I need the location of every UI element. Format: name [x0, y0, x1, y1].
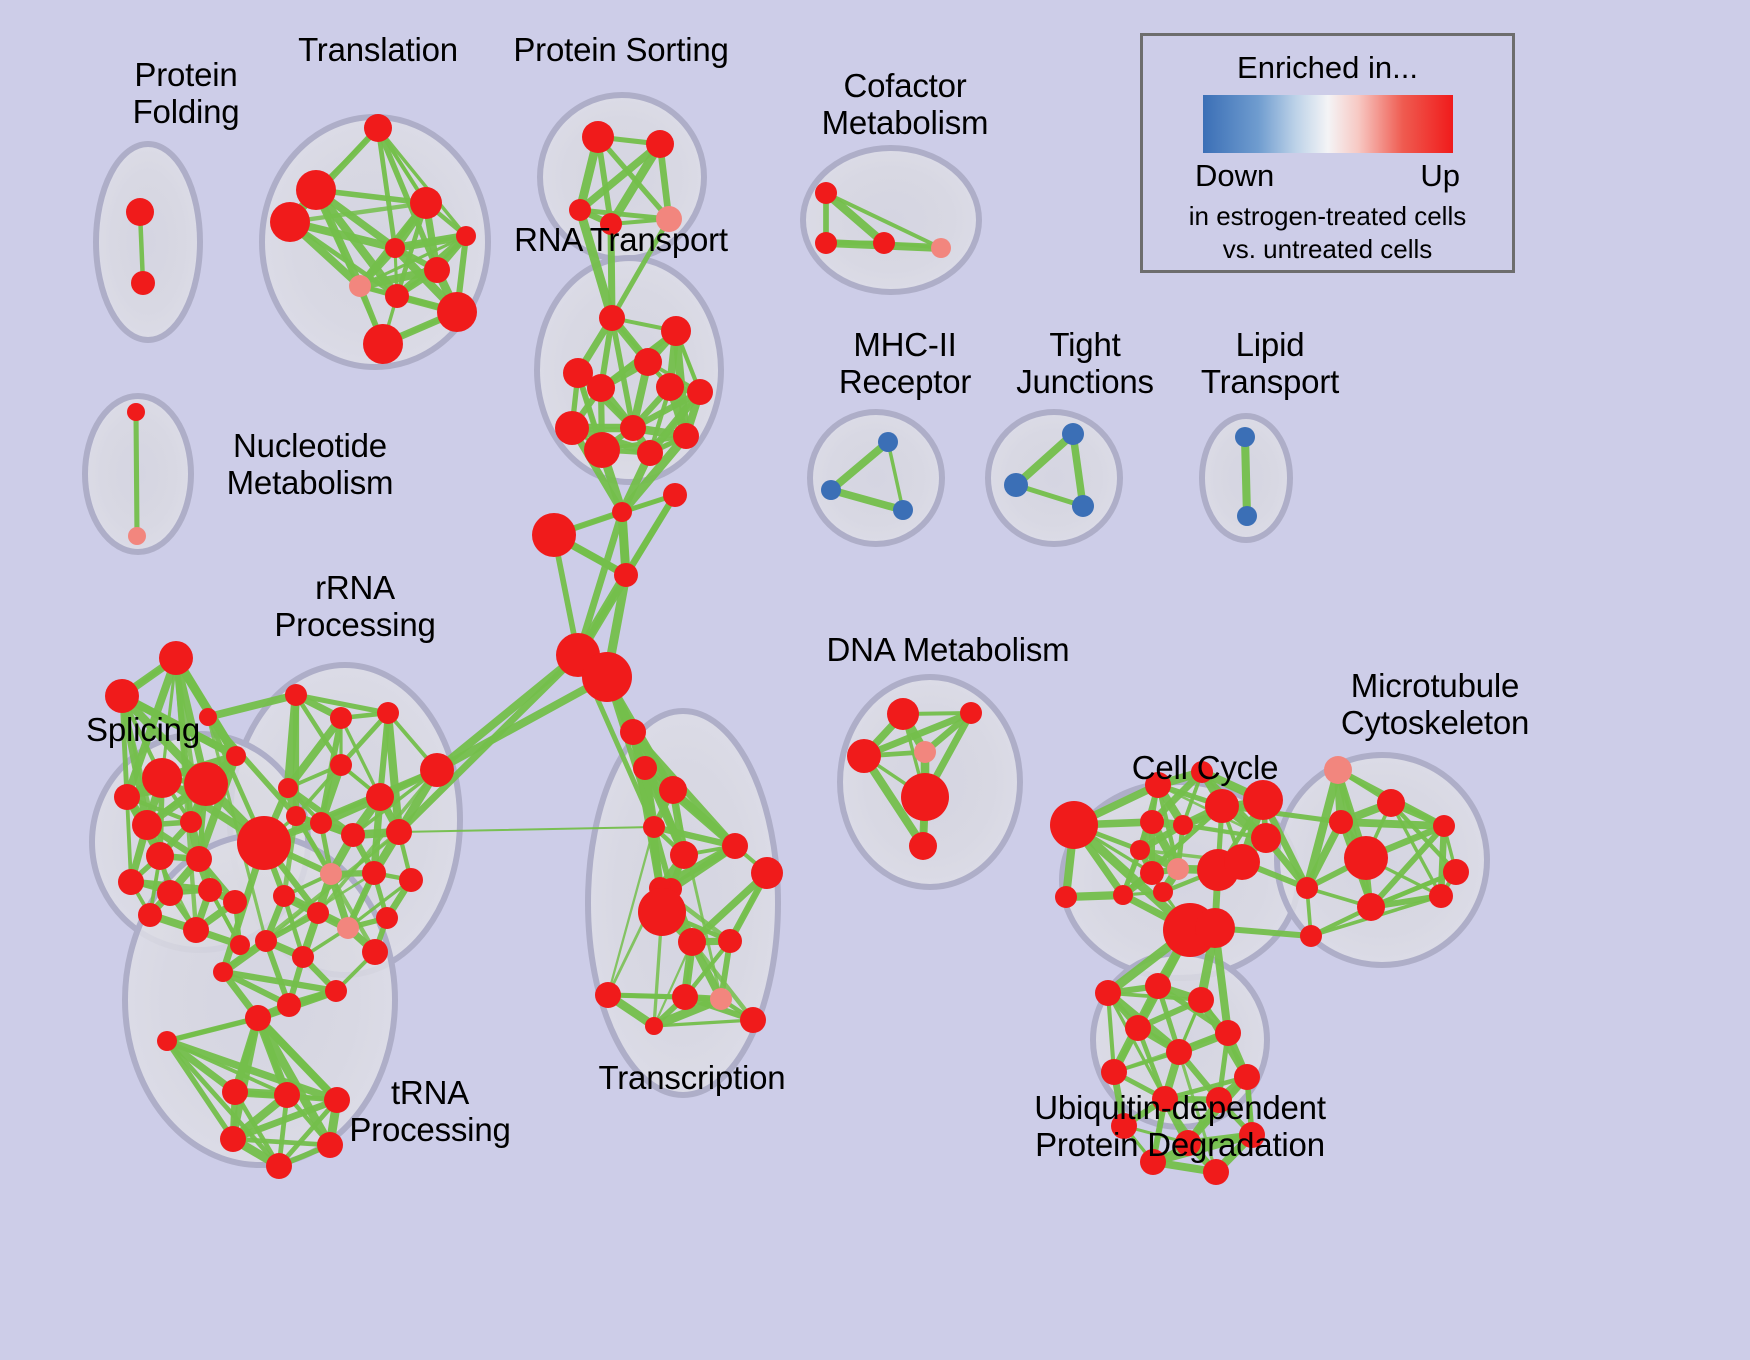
gene-set-node[interactable] [633, 756, 657, 780]
gene-set-node[interactable] [663, 483, 687, 507]
gene-set-node[interactable] [386, 819, 412, 845]
gene-set-node[interactable] [1055, 886, 1077, 908]
gene-set-node[interactable] [1234, 1064, 1260, 1090]
cluster-label-tight-junctions: Tight Junctions [985, 327, 1185, 401]
gene-set-node[interactable] [1235, 427, 1255, 447]
gene-set-node[interactable] [1324, 756, 1352, 784]
gene-set-node[interactable] [847, 739, 881, 773]
legend-high-label: Up [1420, 158, 1460, 194]
legend-low-label: Down [1195, 158, 1274, 194]
gene-set-node[interactable] [1145, 973, 1171, 999]
gene-set-node[interactable] [1237, 506, 1257, 526]
gene-set-node[interactable] [114, 784, 140, 810]
gene-set-node[interactable] [105, 679, 139, 713]
gene-set-node[interactable] [1300, 925, 1322, 947]
gene-set-node[interactable] [330, 707, 352, 729]
cluster-label-ubiquitin-protein-degradation: Ubiquitin-dependent Protein Degradation [990, 1090, 1370, 1164]
gene-set-node[interactable] [273, 885, 295, 907]
gene-set-node[interactable] [1072, 495, 1094, 517]
gene-set-node[interactable] [914, 741, 936, 763]
gene-set-node[interactable] [1357, 893, 1385, 921]
cluster-label-splicing: Splicing [58, 712, 228, 749]
gene-set-node[interactable] [1429, 884, 1453, 908]
gene-set-node[interactable] [292, 946, 314, 968]
cluster-label-nucleotide-metabolism: Nucleotide Metabolism [190, 428, 430, 502]
gene-set-node[interactable] [1130, 840, 1150, 860]
gene-set-node[interactable] [385, 238, 405, 258]
gene-set-node[interactable] [296, 170, 336, 210]
gene-set-node[interactable] [620, 415, 646, 441]
cluster-label-protein-sorting: Protein Sorting [495, 32, 747, 69]
cluster-label-protein-folding: Protein Folding [86, 57, 286, 131]
gene-set-node[interactable] [1167, 858, 1189, 880]
gene-set-node[interactable] [931, 238, 951, 258]
enrichment-map-figure: Protein FoldingTranslationProtein Sortin… [0, 0, 1750, 1360]
gene-set-node[interactable] [157, 1031, 177, 1051]
cluster-label-rna-transport: RNA Transport [495, 222, 747, 259]
gene-set-node[interactable] [1166, 1039, 1192, 1065]
gene-set-node[interactable] [1215, 1020, 1241, 1046]
gene-set-node[interactable] [1050, 801, 1098, 849]
cluster-label-translation: Translation [268, 32, 488, 69]
gene-set-node[interactable] [198, 878, 222, 902]
gene-set-node[interactable] [270, 202, 310, 242]
network-edge [1341, 822, 1444, 826]
legend-color-gradient-bar [1203, 95, 1453, 153]
gene-set-node[interactable] [266, 1153, 292, 1179]
gene-set-node[interactable] [132, 810, 162, 840]
gene-set-node[interactable] [437, 292, 477, 332]
gene-set-node[interactable] [673, 423, 699, 449]
gene-set-node[interactable] [320, 863, 342, 885]
gene-set-node[interactable] [887, 698, 919, 730]
gene-set-node[interactable] [362, 939, 388, 965]
gene-set-node[interactable] [710, 988, 732, 1010]
gene-set-node[interactable] [1224, 844, 1260, 880]
gene-set-node[interactable] [612, 502, 632, 522]
gene-set-node[interactable] [1443, 859, 1469, 885]
gene-set-node[interactable] [672, 984, 698, 1010]
gene-set-node[interactable] [718, 929, 742, 953]
gene-set-node[interactable] [643, 816, 665, 838]
gene-set-node[interactable] [670, 841, 698, 869]
gene-set-node[interactable] [722, 833, 748, 859]
gene-set-node[interactable] [1125, 1015, 1151, 1041]
gene-set-node[interactable] [893, 500, 913, 520]
gene-set-node[interactable] [656, 373, 684, 401]
gene-set-node[interactable] [595, 982, 621, 1008]
cluster-label-trna-processing: tRNA Processing [330, 1075, 530, 1149]
gene-set-node[interactable] [226, 746, 246, 766]
gene-set-node[interactable] [364, 114, 392, 142]
gene-set-node[interactable] [815, 232, 837, 254]
gene-set-node[interactable] [245, 1005, 271, 1031]
cluster-ellipse-protein-folding[interactable] [96, 144, 200, 340]
cluster-label-cell-cycle: Cell Cycle [1105, 750, 1305, 787]
gene-set-node[interactable] [222, 1079, 248, 1105]
gene-set-node[interactable] [131, 271, 155, 295]
gene-set-node[interactable] [659, 776, 687, 804]
gene-set-node[interactable] [751, 857, 783, 889]
gene-set-node[interactable] [230, 935, 250, 955]
gene-set-node[interactable] [307, 902, 329, 924]
gene-set-node[interactable] [532, 513, 576, 557]
gene-set-node[interactable] [223, 890, 247, 914]
gene-set-node[interactable] [420, 753, 454, 787]
gene-set-node[interactable] [138, 903, 162, 927]
gene-set-node[interactable] [286, 806, 306, 826]
legend-panel: Enriched in... Down Up in estrogen-treat… [1140, 33, 1515, 273]
gene-set-node[interactable] [661, 316, 691, 346]
gene-set-node[interactable] [1173, 815, 1193, 835]
gene-set-node[interactable] [146, 842, 174, 870]
gene-set-node[interactable] [157, 880, 183, 906]
legend-subtitle-line-2: vs. untreated cells [1143, 234, 1512, 265]
gene-set-node[interactable] [901, 773, 949, 821]
gene-set-node[interactable] [274, 1082, 300, 1108]
gene-set-node[interactable] [634, 348, 662, 376]
cluster-label-mhc-ii-receptor: MHC-II Receptor [800, 327, 1010, 401]
gene-set-node[interactable] [278, 778, 298, 798]
gene-set-node[interactable] [255, 930, 277, 952]
gene-set-node[interactable] [118, 869, 144, 895]
cluster-ellipse-cofactor-metabolism[interactable] [803, 148, 979, 292]
gene-set-node[interactable] [399, 868, 423, 892]
cluster-label-microtubule-cytoskeleton: Microtubule Cytoskeleton [1305, 668, 1565, 742]
gene-set-node[interactable] [1188, 987, 1214, 1013]
gene-set-node[interactable] [213, 962, 233, 982]
gene-set-node[interactable] [362, 861, 386, 885]
gene-set-node[interactable] [1195, 908, 1235, 948]
gene-set-node[interactable] [180, 811, 202, 833]
gene-set-node[interactable] [645, 1017, 663, 1035]
gene-set-node[interactable] [1251, 823, 1281, 853]
gene-set-node[interactable] [310, 812, 332, 834]
gene-set-node[interactable] [638, 888, 686, 936]
gene-set-node[interactable] [337, 917, 359, 939]
gene-set-node[interactable] [569, 199, 591, 221]
gene-set-node[interactable] [1433, 815, 1455, 837]
gene-set-node[interactable] [960, 702, 982, 724]
gene-set-node[interactable] [909, 832, 937, 860]
gene-set-node[interactable] [1101, 1059, 1127, 1085]
gene-set-node[interactable] [1377, 789, 1405, 817]
cluster-label-transcription: Transcription [577, 1060, 807, 1097]
gene-set-node[interactable] [584, 432, 620, 468]
gene-set-node[interactable] [873, 232, 895, 254]
gene-set-node[interactable] [1095, 980, 1121, 1006]
cluster-label-rrna-processing: rRNA Processing [255, 570, 455, 644]
gene-set-node[interactable] [555, 411, 589, 445]
gene-set-node[interactable] [325, 980, 347, 1002]
gene-set-node[interactable] [878, 432, 898, 452]
gene-set-node[interactable] [1329, 810, 1353, 834]
gene-set-node[interactable] [582, 652, 632, 702]
gene-set-node[interactable] [277, 993, 301, 1017]
cluster-label-dna-metabolism: DNA Metabolism [818, 632, 1078, 669]
gene-set-node[interactable] [330, 754, 352, 776]
gene-set-node[interactable] [646, 130, 674, 158]
gene-set-node[interactable] [1153, 882, 1173, 902]
gene-set-node[interactable] [1004, 473, 1028, 497]
gene-set-node[interactable] [424, 257, 450, 283]
gene-set-node[interactable] [815, 182, 837, 204]
gene-set-node[interactable] [821, 480, 841, 500]
legend-subtitle-line-1: in estrogen-treated cells [1143, 201, 1512, 232]
gene-set-node[interactable] [363, 324, 403, 364]
gene-set-node[interactable] [127, 403, 145, 421]
gene-set-node[interactable] [1344, 836, 1388, 880]
gene-set-node[interactable] [349, 275, 371, 297]
gene-set-node[interactable] [410, 187, 442, 219]
network-edge [437, 677, 607, 770]
gene-set-node[interactable] [237, 816, 291, 870]
gene-set-node[interactable] [285, 684, 307, 706]
gene-set-node[interactable] [184, 762, 228, 806]
gene-set-node[interactable] [740, 1007, 766, 1033]
gene-set-node[interactable] [614, 563, 638, 587]
gene-set-node[interactable] [456, 226, 476, 246]
gene-set-node[interactable] [128, 527, 146, 545]
gene-set-node[interactable] [587, 374, 615, 402]
gene-set-node[interactable] [1062, 423, 1084, 445]
gene-set-node[interactable] [142, 758, 182, 798]
gene-set-node[interactable] [126, 198, 154, 226]
gene-set-node[interactable] [376, 907, 398, 929]
gene-set-node[interactable] [1205, 789, 1239, 823]
cluster-label-lipid-transport: Lipid Transport [1170, 327, 1370, 401]
network-edge [136, 412, 137, 536]
gene-set-node[interactable] [366, 783, 394, 811]
cluster-ellipse-mhc-ii-receptor[interactable] [810, 412, 942, 544]
gene-set-node[interactable] [377, 702, 399, 724]
gene-set-node[interactable] [582, 121, 614, 153]
gene-set-node[interactable] [1113, 885, 1133, 905]
gene-set-node[interactable] [1296, 877, 1318, 899]
legend-title: Enriched in... [1143, 50, 1512, 86]
gene-set-node[interactable] [186, 846, 212, 872]
gene-set-node[interactable] [599, 305, 625, 331]
gene-set-node[interactable] [341, 823, 365, 847]
gene-set-node[interactable] [1140, 861, 1164, 885]
gene-set-node[interactable] [159, 641, 193, 675]
gene-set-node[interactable] [687, 379, 713, 405]
gene-set-node[interactable] [637, 440, 663, 466]
cluster-label-cofactor-metabolism: Cofactor Metabolism [790, 68, 1020, 142]
gene-set-node[interactable] [620, 719, 646, 745]
gene-set-node[interactable] [183, 917, 209, 943]
gene-set-node[interactable] [385, 284, 409, 308]
gene-set-node[interactable] [678, 928, 706, 956]
gene-set-node[interactable] [1140, 810, 1164, 834]
gene-set-node[interactable] [220, 1126, 246, 1152]
network-edge [1245, 437, 1247, 516]
